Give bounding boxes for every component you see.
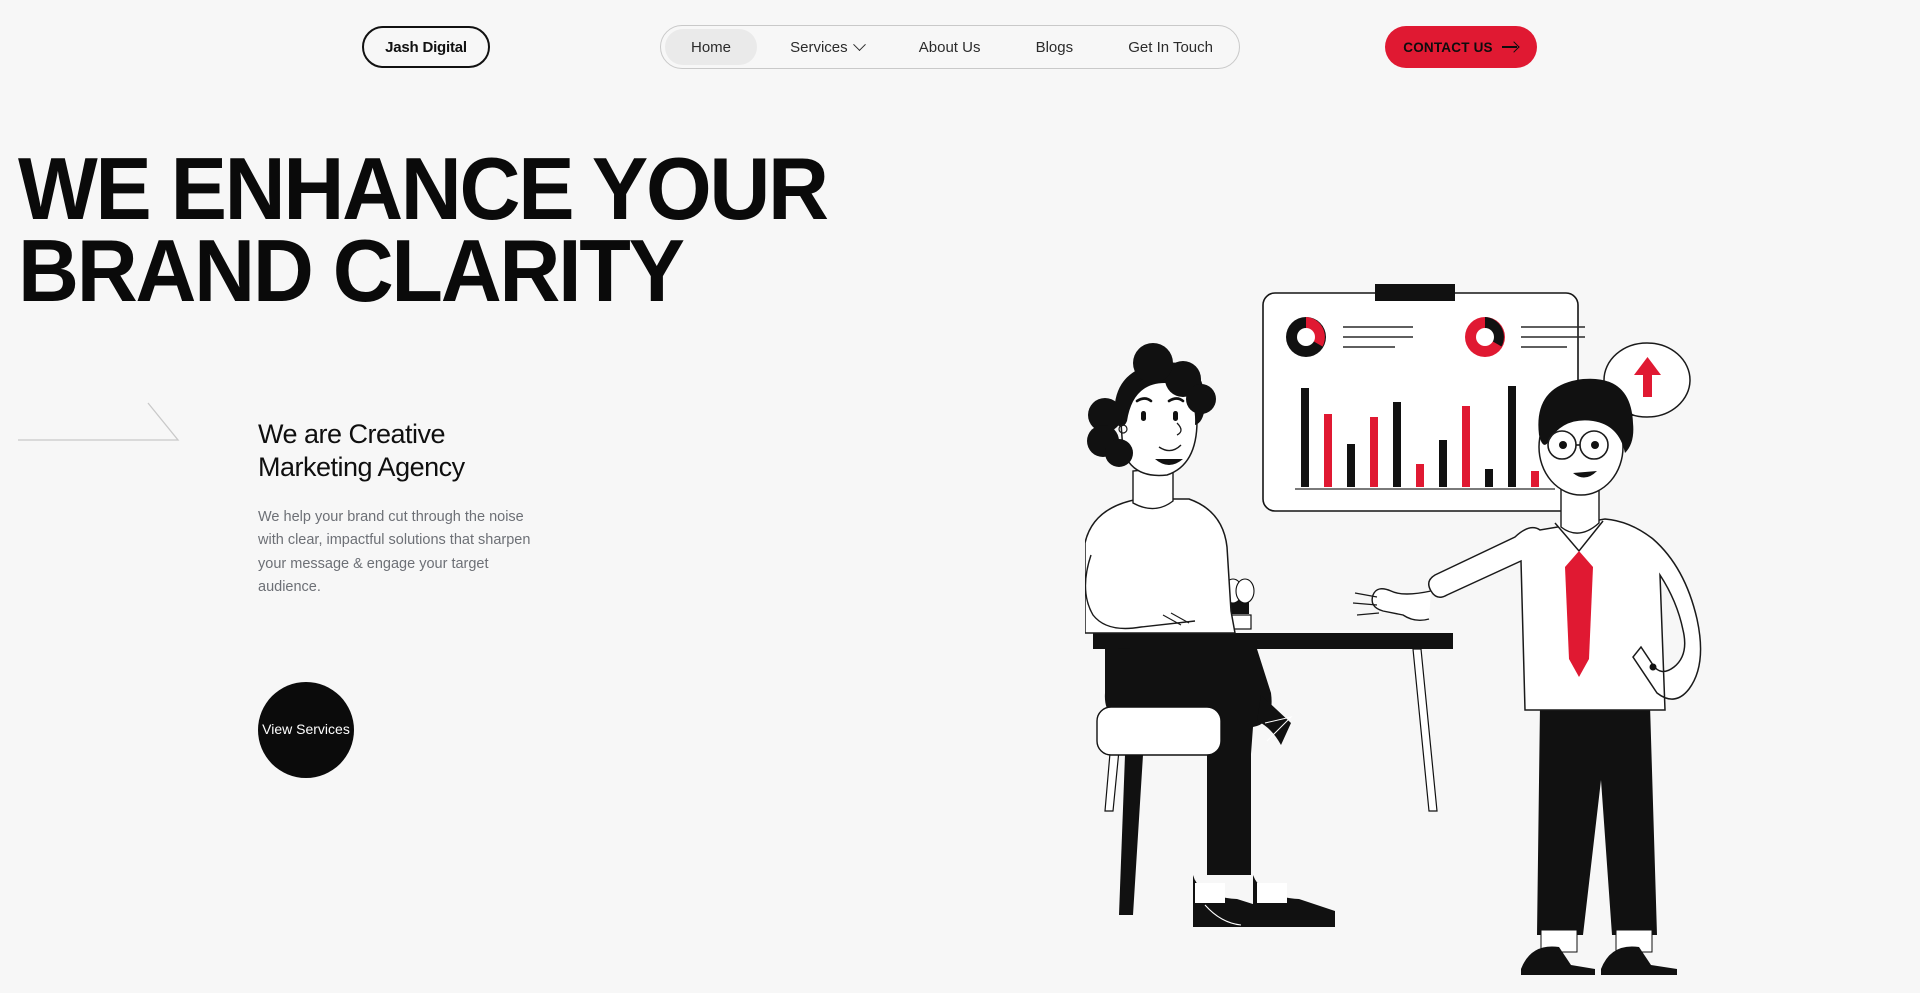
arrow-right-icon [1502, 41, 1519, 53]
chevron-down-icon [853, 38, 866, 51]
whiteboard [1263, 284, 1585, 511]
view-services-button[interactable]: View Services [258, 682, 354, 778]
desk-top [1093, 633, 1453, 649]
nav-item-about-us[interactable]: About Us [897, 29, 1003, 65]
nav-item-blogs-label: Blogs [1036, 39, 1074, 56]
headline-line-2: BRAND CLARITY [18, 230, 978, 312]
business-team-presentation-illustration [1085, 275, 1785, 975]
nav-item-get-in-touch[interactable]: Get In Touch [1106, 29, 1235, 65]
nav-item-blogs[interactable]: Blogs [1014, 29, 1096, 65]
logo-label: Jash Digital [385, 39, 467, 56]
seated-woman-upper [1085, 343, 1235, 633]
whiteboard-clip [1375, 284, 1455, 301]
nav-item-home[interactable]: Home [665, 29, 757, 65]
nav-item-home-label: Home [691, 39, 731, 56]
contact-us-button[interactable]: CONTACT US [1385, 26, 1537, 68]
nav-item-get-in-touch-label: Get In Touch [1128, 39, 1213, 56]
logo[interactable]: Jash Digital [362, 26, 490, 68]
contact-us-label: CONTACT US [1403, 40, 1493, 55]
nav-item-services[interactable]: Services [768, 29, 886, 65]
donut-chart-right [1465, 317, 1505, 357]
nav-item-about-us-label: About Us [919, 39, 981, 56]
hero-text-block: We are Creative Marketing Agency We help… [258, 418, 548, 600]
site-header: Jash Digital Home Services About Us Blog… [0, 0, 1920, 92]
hero-subheading: We are Creative Marketing Agency [258, 418, 548, 484]
donut-chart-left [1286, 317, 1326, 357]
view-services-label: View Services [262, 721, 350, 738]
page-title: WE ENHANCE YOUR BRAND CLARITY [18, 148, 978, 312]
main-navigation: Home Services About Us Blogs Get In Touc… [660, 25, 1240, 69]
nav-item-services-label: Services [790, 39, 848, 56]
hero-body-text: We help your brand cut through the noise… [258, 506, 533, 600]
arrow-line-decoration [18, 398, 183, 448]
